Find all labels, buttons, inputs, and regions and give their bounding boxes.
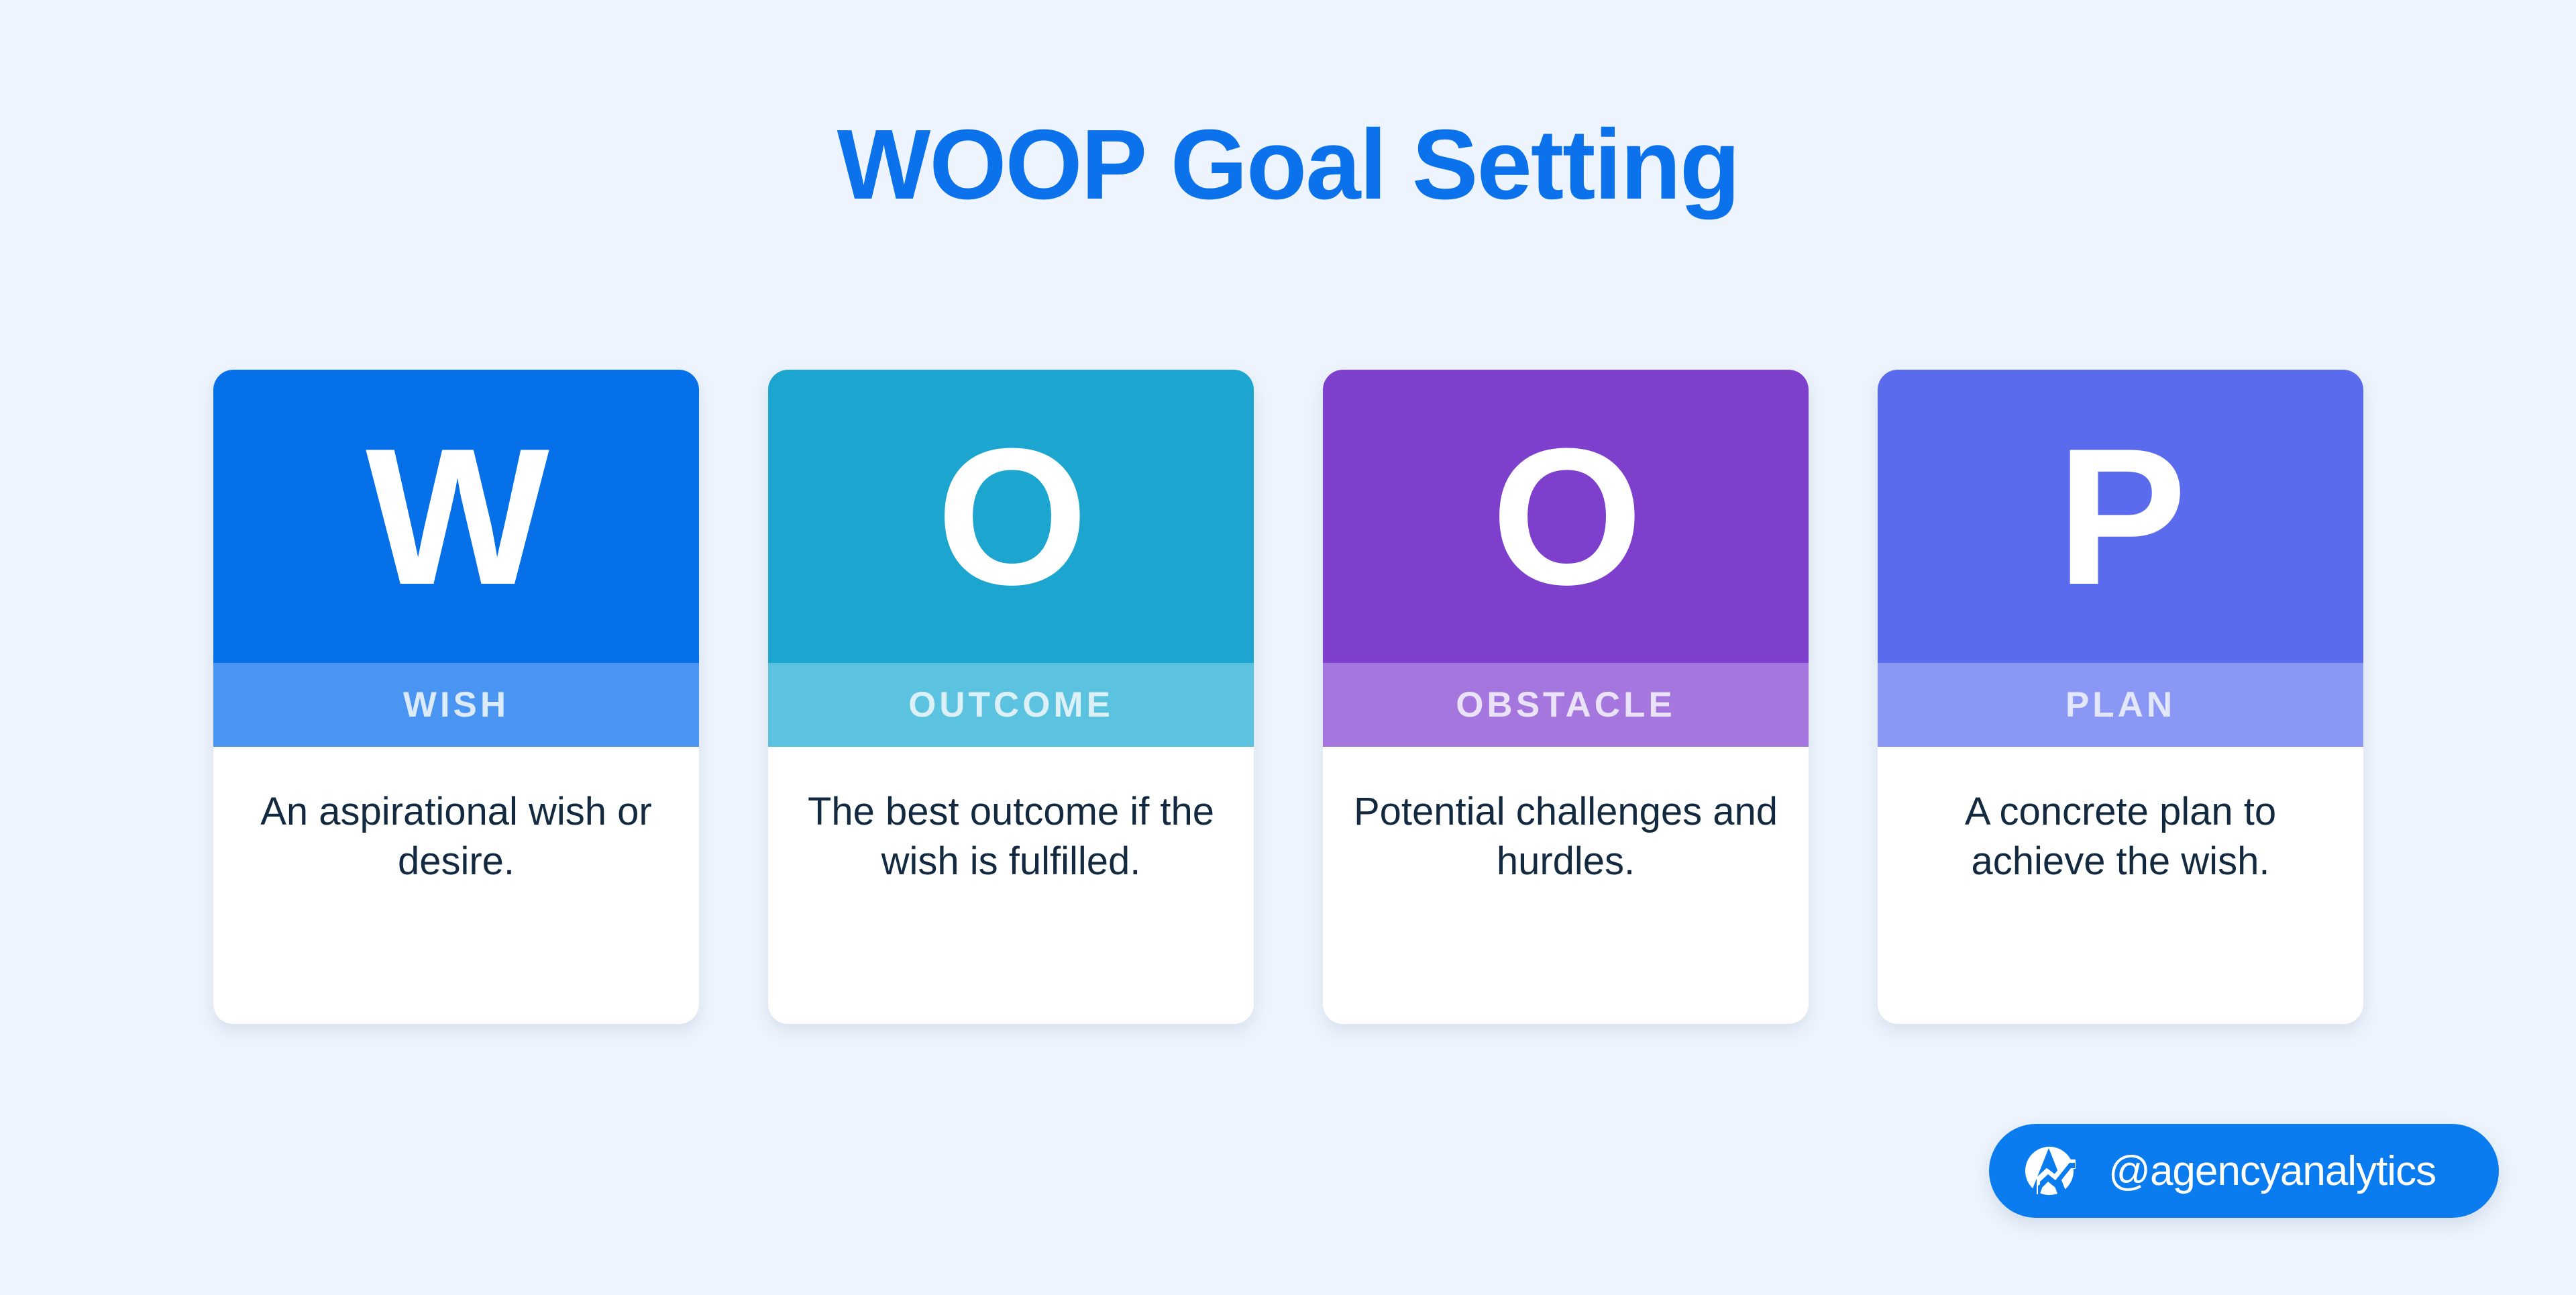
woop-card-row: W WISH An aspirational wish or desire. O… — [213, 370, 2365, 1024]
card-description-obstacle: Potential challenges and hurdles. — [1348, 787, 1783, 886]
card-label-outcome: OUTCOME — [768, 663, 1254, 747]
card-letter-p: P — [1878, 370, 2363, 663]
card-label-obstacle: OBSTACLE — [1323, 663, 1809, 747]
card-body-obstacle: Potential challenges and hurdles. — [1323, 747, 1809, 1024]
brand-handle-text: @agencyanalytics — [2108, 1147, 2436, 1195]
card-letter-o-obstacle: O — [1323, 370, 1809, 663]
card-label-wish: WISH — [213, 663, 699, 747]
woop-card-plan: P PLAN A concrete plan to achieve the wi… — [1878, 370, 2363, 1024]
agencyanalytics-logo-icon — [2017, 1137, 2084, 1204]
card-description-outcome: The best outcome if the wish is fulfille… — [794, 787, 1228, 886]
card-body-plan: A concrete plan to achieve the wish. — [1878, 747, 2363, 1024]
woop-card-wish: W WISH An aspirational wish or desire. — [213, 370, 699, 1024]
card-letter-w: W — [213, 370, 699, 663]
woop-card-obstacle: O OBSTACLE Potential challenges and hurd… — [1323, 370, 1809, 1024]
card-body-wish: An aspirational wish or desire. — [213, 747, 699, 1024]
card-letter-o-outcome: O — [768, 370, 1254, 663]
woop-card-outcome: O OUTCOME The best outcome if the wish i… — [768, 370, 1254, 1024]
card-description-plan: A concrete plan to achieve the wish. — [1903, 787, 2338, 886]
infographic-canvas: WOOP Goal Setting W WISH An aspirational… — [0, 0, 2576, 1295]
brand-badge[interactable]: @agencyanalytics — [1989, 1124, 2499, 1218]
page-title: WOOP Goal Setting — [0, 115, 2576, 215]
card-description-wish: An aspirational wish or desire. — [239, 787, 674, 886]
card-label-plan: PLAN — [1878, 663, 2363, 747]
card-body-outcome: The best outcome if the wish is fulfille… — [768, 747, 1254, 1024]
